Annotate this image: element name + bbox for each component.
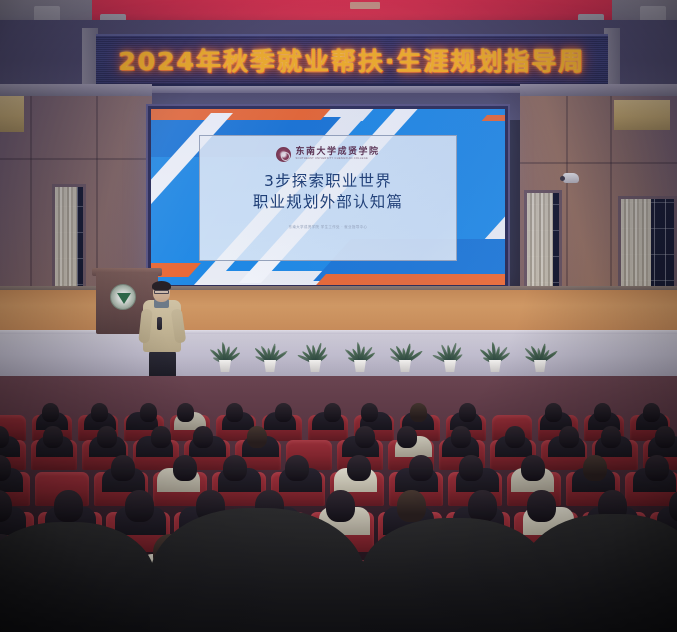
slide-title-line1: 3步探索职业世界 [264,171,392,192]
wall-trim-right [520,84,677,96]
wall-trim-left [0,84,152,96]
potted-plant [475,338,515,372]
institutional-emblem-icon [110,284,136,310]
slide-organization-subline: SOUTHEAST UNIVERSITY CHENGXIAN COLLEGE [295,158,379,161]
foreground-attendee [0,522,155,632]
wall-panel-seam [96,96,98,274]
plant-pot [218,360,233,372]
plant-pot [398,360,413,372]
gold-wall-panel [0,96,24,132]
projection-screen: 东南大学成贤学院 SOUTHEAST UNIVERSITY CHENGXIAN … [146,104,510,290]
plant-foliage [250,333,290,363]
wall-panel-seam [520,162,677,164]
security-camera [563,173,579,183]
presentation-slide: 东南大学成贤学院 SOUTHEAST UNIVERSITY CHENGXIAN … [151,109,505,285]
plant-foliage [430,333,470,363]
potted-plant [430,338,470,372]
gold-wall-panel [614,100,670,130]
plant-pot [533,360,548,372]
plant-pot [488,360,503,372]
plant-foliage [205,333,245,363]
university-seal-icon [276,147,291,162]
audience-seating-area [0,376,677,632]
plant-foliage [385,333,425,363]
potted-plant [250,338,290,372]
plant-foliage [340,333,380,363]
slide-organization: 东南大学成贤学院 [295,148,379,157]
plant-foliage [475,333,515,363]
ceiling-vent [350,2,380,9]
potted-plant [385,338,425,372]
potted-plant [295,338,335,372]
stage-floor [0,334,677,380]
plant-pot [443,360,458,372]
slide-logo: 东南大学成贤学院 SOUTHEAST UNIVERSITY CHENGXIAN … [276,147,379,162]
slide-decor-band [311,274,505,285]
slide-footnote: 东南大学成贤学院 学生工作处 · 就业指导中心 [289,224,368,229]
presenter [140,283,184,381]
wall-panel-seam [0,158,152,160]
plant-pot [308,360,323,372]
auditorium-scene: 2024年秋季就业帮扶·生涯规划指导周 [0,0,677,632]
slide-decor-band [151,109,336,120]
potted-plant [520,338,560,372]
led-banner-text: 2024年秋季就业帮扶·生涯规划指导周 [118,42,585,78]
plant-pot [353,360,368,372]
slide-title-line2: 职业规划外部认知篇 [253,192,403,213]
microphone-icon [157,317,162,330]
led-banner: 2024年秋季就业帮扶·生涯规划指导周 [96,34,608,86]
plant-foliage [295,333,335,363]
plant-foliage [520,333,560,363]
slide-content-box: 东南大学成贤学院 SOUTHEAST UNIVERSITY CHENGXIAN … [199,135,457,261]
presenter-glasses [154,290,169,294]
potted-plant [340,338,380,372]
plant-pot [263,360,278,372]
foreground-attendee [150,508,365,632]
potted-plant [205,338,245,372]
